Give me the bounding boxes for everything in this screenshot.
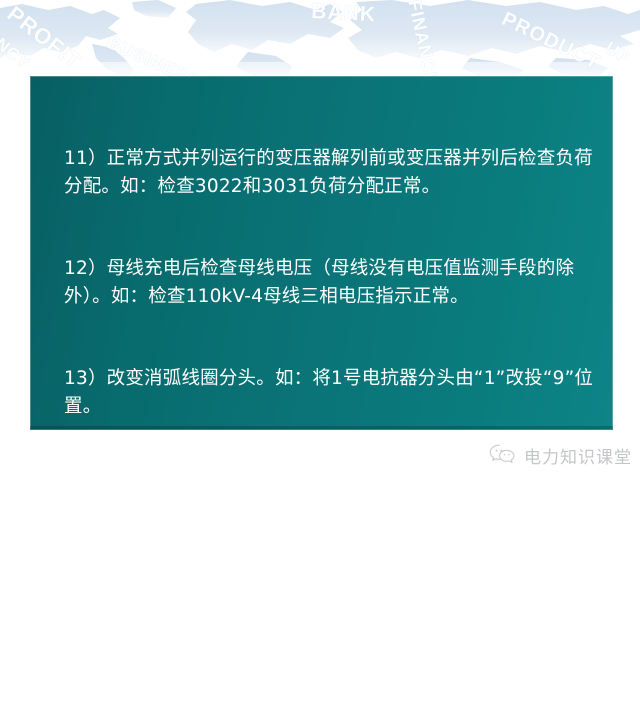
header-word-bank: BANK <box>311 0 377 27</box>
slide-text-block: 11）正常方式并列运行的变压器解列前或变压器并列后检查负荷分配。如：检查3022… <box>64 90 599 723</box>
wechat-icon <box>489 443 517 467</box>
footer-brand-label: 电力知识课堂 <box>524 443 632 468</box>
slide-page: PROFIT NCY BUSINESS BANK FINANCE PRODUCT… <box>0 0 640 480</box>
slide-paragraph-11: 11）正常方式并列运行的变压器解列前或变压器并列后检查负荷分配。如：检查3022… <box>64 145 599 200</box>
slide-paragraph-13: 13）改变消弧线圈分头。如：将1号电抗器分头由“1”改投“9”位置。 <box>64 365 599 420</box>
slide-content-panel: 11）正常方式并列运行的变压器解列前或变压器并列后检查负荷分配。如：检查3022… <box>30 76 613 430</box>
footer-watermark: 电力知识课堂 <box>489 440 632 470</box>
slide-paragraph-example: 如：在2211-2刀闸操作机构处挂“禁止合闸，线路有人工作”标示牌，拆2211-… <box>64 585 599 668</box>
slide-paragraph-14: 14）遇有线路转检修，敞开式设备应在线路出口及旁路（如有旁路）刀闸操作机构处挂“… <box>64 475 599 530</box>
slide-paragraph-12: 12）母线充电后检查母线电压（母线没有电压值监测手段的除外）。如：检查110kV… <box>64 255 599 310</box>
header-banner: PROFIT NCY BUSINESS BANK FINANCE PRODUCT… <box>0 0 640 76</box>
